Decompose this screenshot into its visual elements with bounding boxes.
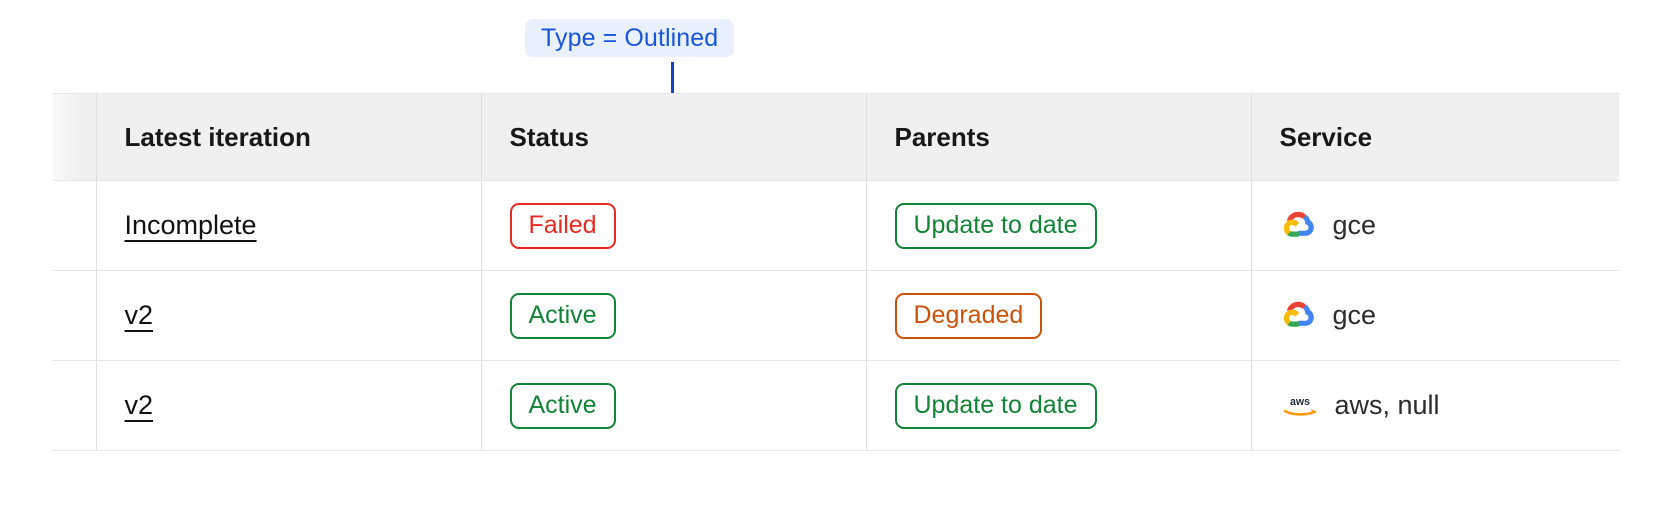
column-header-status[interactable]: Status — [481, 94, 866, 181]
cell-status: Active — [481, 361, 866, 451]
google-cloud-icon — [1280, 207, 1318, 245]
cell-service: gce — [1251, 181, 1619, 271]
row-spacer-cell — [53, 361, 96, 451]
annotation-badge: Type = Outlined — [525, 19, 734, 57]
status-table: Latest iteration Status Parents Service … — [53, 93, 1619, 451]
cell-status: Failed — [481, 181, 866, 271]
aws-icon: aws — [1280, 391, 1320, 421]
table-row: v2 Active Degraded — [53, 271, 1619, 361]
status-badge: Failed — [510, 203, 616, 249]
service-cell: gce — [1280, 207, 1592, 245]
iteration-link[interactable]: Incomplete — [125, 210, 257, 240]
parents-badge: Update to date — [895, 203, 1097, 249]
column-header-service[interactable]: Service — [1251, 94, 1619, 181]
svg-text:aws: aws — [1289, 395, 1309, 407]
column-header-spacer — [53, 94, 96, 181]
cell-parents: Update to date — [866, 361, 1251, 451]
service-cell: gce — [1280, 297, 1592, 335]
parents-badge: Degraded — [895, 293, 1043, 339]
screenshot-root: Type = Outlined Latest iteration Status … — [0, 0, 1672, 510]
table-row: v2 Active Update to date aws — [53, 361, 1619, 451]
column-header-latest-iteration[interactable]: Latest iteration — [96, 94, 481, 181]
parents-badge: Update to date — [895, 383, 1097, 429]
row-spacer-cell — [53, 271, 96, 361]
cell-service: aws aws, null — [1251, 361, 1619, 451]
cell-status: Active — [481, 271, 866, 361]
google-cloud-icon — [1280, 297, 1318, 335]
table-header: Latest iteration Status Parents Service — [53, 94, 1619, 181]
status-badge: Active — [510, 293, 616, 339]
cell-latest-iteration: Incomplete — [96, 181, 481, 271]
iteration-link[interactable]: v2 — [125, 300, 154, 330]
table-header-row: Latest iteration Status Parents Service — [53, 94, 1619, 181]
status-badge: Active — [510, 383, 616, 429]
status-table-container: Latest iteration Status Parents Service … — [53, 93, 1619, 451]
column-header-parents[interactable]: Parents — [866, 94, 1251, 181]
service-cell: aws aws, null — [1280, 390, 1592, 421]
iteration-link[interactable]: v2 — [125, 390, 154, 420]
service-label: gce — [1333, 210, 1377, 241]
service-label: gce — [1333, 300, 1377, 331]
table-body: Incomplete Failed Update to date — [53, 181, 1619, 451]
cell-latest-iteration: v2 — [96, 271, 481, 361]
table-row: Incomplete Failed Update to date — [53, 181, 1619, 271]
cell-parents: Update to date — [866, 181, 1251, 271]
cell-parents: Degraded — [866, 271, 1251, 361]
cell-latest-iteration: v2 — [96, 361, 481, 451]
service-label: aws, null — [1335, 390, 1440, 421]
row-spacer-cell — [53, 181, 96, 271]
cell-service: gce — [1251, 271, 1619, 361]
